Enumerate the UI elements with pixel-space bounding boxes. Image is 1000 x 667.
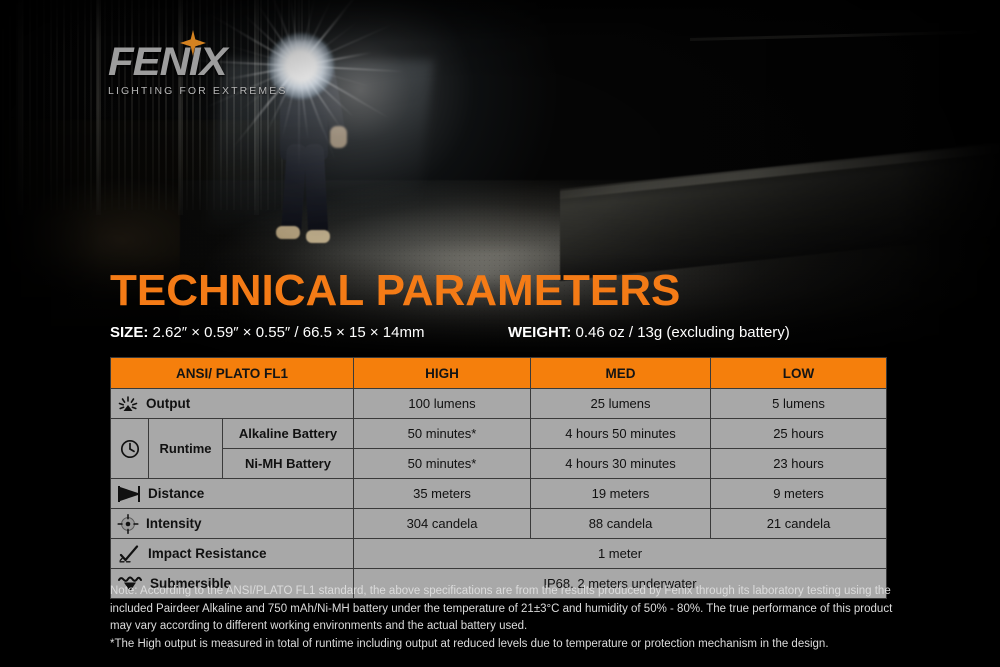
table-header: ANSI/ PLATO FL1 HIGH MED LOW [111, 358, 887, 389]
row-label-impact-resistance: Impact Resistance [111, 539, 354, 569]
table-row-output: Output 100 lumens 25 lumens 5 lumens [111, 389, 887, 419]
cell-runtime-nimh-high: 50 minutes* [354, 449, 531, 479]
fence-bar [118, 0, 120, 210]
header-high: HIGH [354, 358, 531, 389]
table-row-distance: Distance 35 meters 19 meters 9 meters [111, 479, 887, 509]
weight-spec: WEIGHT: 0.46 oz / 13g (excluding battery… [508, 322, 790, 344]
table-row-runtime-nimh: Ni-MH Battery 50 minutes* 4 hours 30 min… [111, 449, 887, 479]
fence-bar [84, 0, 86, 210]
table-row-runtime-alkaline: Runtime Alkaline Battery 50 minutes* 4 h… [111, 419, 887, 449]
weight-label: WEIGHT: [508, 324, 571, 341]
fence-bar [104, 0, 106, 210]
fence-post [18, 0, 23, 210]
row-label-text: Output [146, 396, 190, 411]
size-weight-line: SIZE: 2.62″ × 0.59″ × 0.55″ / 66.5 × 15 … [110, 322, 900, 344]
row-label-text: Impact Resistance [148, 546, 267, 561]
fence-bar [77, 0, 79, 210]
cell-impact-resistance-value: 1 meter [354, 539, 887, 569]
row-label-text: Distance [148, 486, 204, 501]
size-value: 2.62″ × 0.59″ × 0.55″ / 66.5 × 15 × 14mm [153, 324, 425, 341]
fence-bar [50, 0, 52, 210]
cell-distance-low: 9 meters [711, 479, 887, 509]
product-spec-page: FENIX LIGHTING FOR EXTREMES TECHNICAL PA… [0, 0, 1000, 667]
row-label-output: Output [111, 389, 354, 419]
footnote-line-2: *The High output is measured in total of… [110, 636, 900, 654]
intensity-crosshair-icon [117, 514, 139, 534]
sublabel-alkaline-battery: Alkaline Battery [223, 419, 354, 449]
fence-bar [138, 0, 140, 210]
fence-bar [145, 0, 147, 210]
table-row-impact-resistance: Impact Resistance 1 meter [111, 539, 887, 569]
fence-bar [186, 0, 188, 210]
fence-bar [158, 0, 160, 210]
row-label-distance: Distance [111, 479, 354, 509]
fence-bar [199, 0, 201, 210]
fence-bar [131, 0, 133, 210]
cell-runtime-alkaline-high: 50 minutes* [354, 419, 531, 449]
person-shoe-right [306, 230, 330, 243]
size-label: SIZE: [110, 324, 148, 341]
cell-output-med: 25 lumens [531, 389, 711, 419]
fence-bar [124, 0, 126, 210]
fence-bar [111, 0, 113, 210]
fence-bar [70, 0, 72, 210]
cell-runtime-alkaline-med: 4 hours 50 minutes [531, 419, 711, 449]
row-label-text: Intensity [146, 516, 202, 531]
cell-distance-high: 35 meters [354, 479, 531, 509]
footnote-line-1: Note: According to the ANSI/PLATO FL1 st… [110, 583, 900, 636]
table-row-intensity: Intensity 304 candela 88 candela 21 cand… [111, 509, 887, 539]
weight-value: 0.46 oz / 13g (excluding battery) [576, 324, 790, 341]
fence-post [178, 0, 183, 210]
clock-icon [111, 419, 149, 479]
fence-bar [43, 0, 45, 210]
fence-bar [36, 0, 38, 210]
fence-bar [29, 0, 31, 210]
size-spec: SIZE: 2.62″ × 0.59″ × 0.55″ / 66.5 × 15 … [110, 322, 424, 344]
cell-runtime-nimh-low: 23 hours [711, 449, 887, 479]
fence-post [96, 0, 101, 210]
cell-intensity-med: 88 candela [531, 509, 711, 539]
header-ansi-plato: ANSI/ PLATO FL1 [111, 358, 354, 389]
cell-intensity-high: 304 candela [354, 509, 531, 539]
brand-wordmark: FENIX [108, 42, 296, 82]
fence-rail [690, 30, 1000, 41]
table-header-row: ANSI/ PLATO FL1 HIGH MED LOW [111, 358, 887, 389]
cell-output-low: 5 lumens [711, 389, 887, 419]
table-body: Output 100 lumens 25 lumens 5 lumens [111, 389, 887, 599]
cell-distance-med: 19 meters [531, 479, 711, 509]
row-label-intensity: Intensity [111, 509, 354, 539]
beam-distance-icon [117, 485, 141, 503]
sunburst-icon [117, 395, 139, 413]
row-label-runtime: Runtime [149, 419, 223, 479]
page-title: TECHNICAL PARAMETERS [110, 269, 680, 313]
cell-output-high: 100 lumens [354, 389, 531, 419]
footnote: Note: According to the ANSI/PLATO FL1 st… [110, 583, 900, 653]
sublabel-nimh-battery: Ni-MH Battery [223, 449, 354, 479]
fence-bar [152, 0, 154, 210]
fence-bar [56, 0, 58, 210]
header-low: LOW [711, 358, 887, 389]
fence-bar [172, 0, 174, 210]
fence-bar [165, 0, 167, 210]
fence-bar [2, 0, 4, 210]
fence-bar [9, 0, 11, 210]
technical-parameters-table: ANSI/ PLATO FL1 HIGH MED LOW [110, 357, 886, 599]
cell-intensity-low: 21 candela [711, 509, 887, 539]
cell-runtime-alkaline-low: 25 hours [711, 419, 887, 449]
header-med: MED [531, 358, 711, 389]
impact-resistance-icon [117, 544, 141, 564]
fenix-logo: FENIX LIGHTING FOR EXTREMES [108, 42, 287, 97]
cell-runtime-nimh-med: 4 hours 30 minutes [531, 449, 711, 479]
brand-tagline: LIGHTING FOR EXTREMES [108, 85, 287, 97]
fence-bar [90, 0, 92, 210]
fence-bar [63, 0, 65, 210]
spec-table: ANSI/ PLATO FL1 HIGH MED LOW [110, 357, 887, 599]
